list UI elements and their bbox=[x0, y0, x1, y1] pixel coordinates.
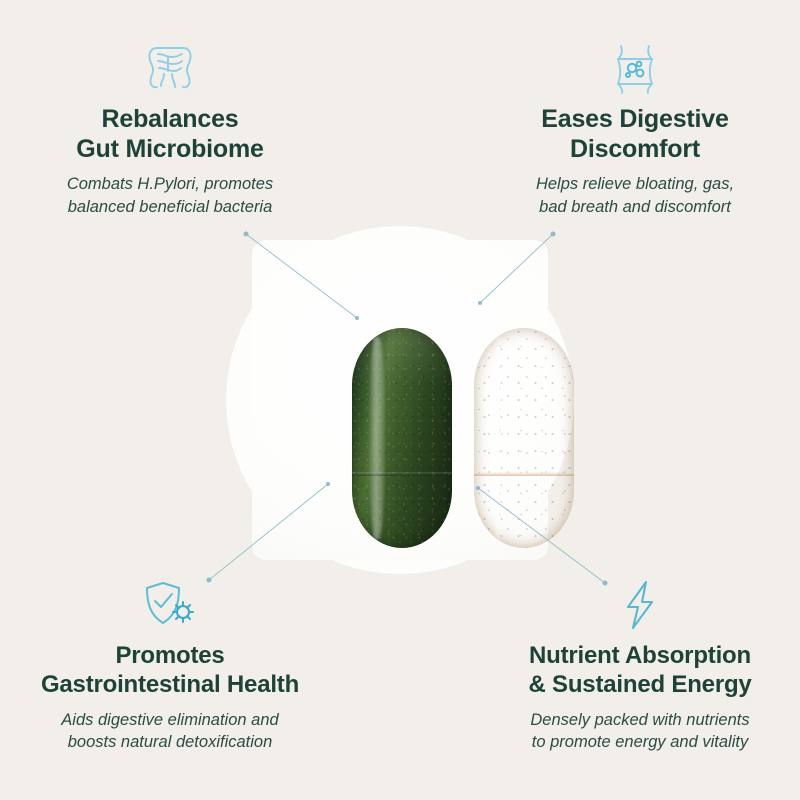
feature-title: Rebalances Gut Microbiome bbox=[20, 104, 320, 164]
feature-description-line: Aids digestive elimination and bbox=[20, 709, 320, 732]
feature-description: Aids digestive elimination and boosts na… bbox=[20, 709, 320, 755]
feature-nutrient-absorption-sustained-energy: Nutrient Absorption & Sustained Energy D… bbox=[490, 574, 790, 754]
stomach-bloating-icon bbox=[485, 36, 785, 98]
feature-title: Promotes Gastrointestinal Health bbox=[20, 642, 320, 700]
feature-eases-digestive-discomfort: Eases Digestive Discomfort Helps relieve… bbox=[485, 36, 785, 219]
product-benefits-infographic: Rebalances Gut Microbiome Combats H.Pylo… bbox=[0, 0, 800, 800]
feature-title-line: Gastrointestinal Health bbox=[20, 671, 320, 700]
green-capsule-seam bbox=[352, 472, 452, 476]
feature-title: Eases Digestive Discomfort bbox=[485, 104, 785, 164]
intestine-icon bbox=[20, 36, 320, 98]
product-visual bbox=[200, 200, 600, 600]
green-capsule bbox=[352, 328, 452, 548]
feature-title-line: Rebalances bbox=[20, 104, 320, 134]
feature-description-line: Combats H.Pylori, promotes bbox=[20, 173, 320, 196]
product-photo-plate bbox=[252, 240, 548, 560]
green-capsule-cap bbox=[352, 328, 452, 386]
orange-capsule-seam bbox=[474, 472, 574, 476]
orange-capsule bbox=[474, 328, 574, 548]
feature-description: Densely packed with nutrients to promote… bbox=[490, 709, 790, 755]
feature-title-line: Promotes bbox=[20, 642, 320, 671]
feature-description-line: Helps relieve bloating, gas, bbox=[485, 173, 785, 196]
feature-description-line: Densely packed with nutrients bbox=[490, 709, 790, 732]
feature-rebalances-gut-microbiome: Rebalances Gut Microbiome Combats H.Pylo… bbox=[20, 36, 320, 219]
feature-title-line: Discomfort bbox=[485, 134, 785, 164]
feature-title-line: Eases Digestive bbox=[485, 104, 785, 134]
feature-description: Combats H.Pylori, promotes balanced bene… bbox=[20, 173, 320, 219]
feature-description-line: boosts natural detoxification bbox=[20, 731, 320, 754]
lightning-bolt-icon bbox=[490, 574, 790, 636]
feature-promotes-gastrointestinal-health: Promotes Gastrointestinal Health Aids di… bbox=[20, 574, 320, 754]
feature-description-line: bad breath and discomfort bbox=[485, 196, 785, 219]
orange-capsule-cap bbox=[474, 328, 574, 386]
feature-description: Helps relieve bloating, gas, bad breath … bbox=[485, 173, 785, 219]
feature-title-line: Nutrient Absorption bbox=[490, 642, 790, 671]
shield-check-germ-icon bbox=[20, 574, 320, 636]
feature-description-line: to promote energy and vitality bbox=[490, 731, 790, 754]
feature-title-line: & Sustained Energy bbox=[490, 671, 790, 700]
feature-title: Nutrient Absorption & Sustained Energy bbox=[490, 642, 790, 700]
feature-description-line: balanced beneficial bacteria bbox=[20, 196, 320, 219]
feature-title-line: Gut Microbiome bbox=[20, 134, 320, 164]
capsule-pair bbox=[252, 240, 548, 560]
